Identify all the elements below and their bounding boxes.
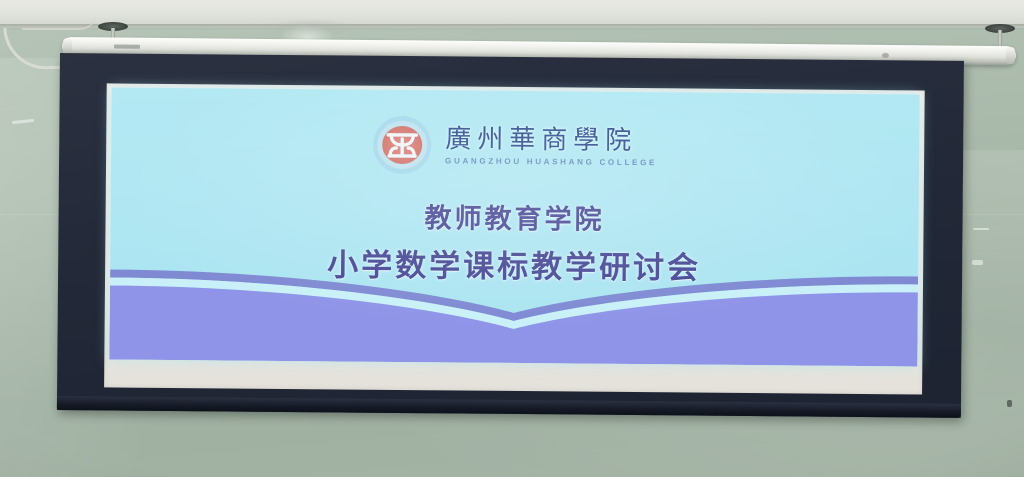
projector-screen-surface: 廣州華商學院 GUANGZHOU HUASHANG COLLEGE 教师教育学院… <box>104 83 925 394</box>
college-name-en: GUANGZHOU HUASHANG COLLEGE <box>445 157 657 167</box>
roller-brand-label <box>114 44 140 48</box>
open-book-motif-icon <box>109 259 918 366</box>
wall-scuff-mark <box>972 260 983 265</box>
guangzhou-huashang-college-emblem-icon <box>373 116 432 175</box>
classroom-photo: 廣州華商學院 GUANGZHOU HUASHANG COLLEGE 教师教育学院… <box>0 0 1024 477</box>
ceiling-wall-edge <box>0 24 1024 30</box>
roller-screw <box>882 53 889 58</box>
college-name-cn: 廣州華商學院 <box>445 126 657 154</box>
power-cable-secondary <box>22 14 96 30</box>
projected-slide: 廣州華商學院 GUANGZHOU HUASHANG COLLEGE 教师教育学院… <box>109 87 919 366</box>
slide-heading-department: 教师教育学院 <box>110 193 918 239</box>
projector-screen-frame: 廣州華商學院 GUANGZHOU HUASHANG COLLEGE 教师教育学院… <box>57 53 964 418</box>
emblem-glyph-icon <box>373 116 432 175</box>
wall-scuff-mark <box>1007 400 1012 407</box>
college-name-block: 廣州華商學院 GUANGZHOU HUASHANG COLLEGE <box>445 126 657 167</box>
slide-logo-row: 廣州華商學院 GUANGZHOU HUASHANG COLLEGE <box>111 113 919 178</box>
roller-end-cap-right <box>1006 47 1015 64</box>
wall-scuff-mark <box>973 228 989 230</box>
